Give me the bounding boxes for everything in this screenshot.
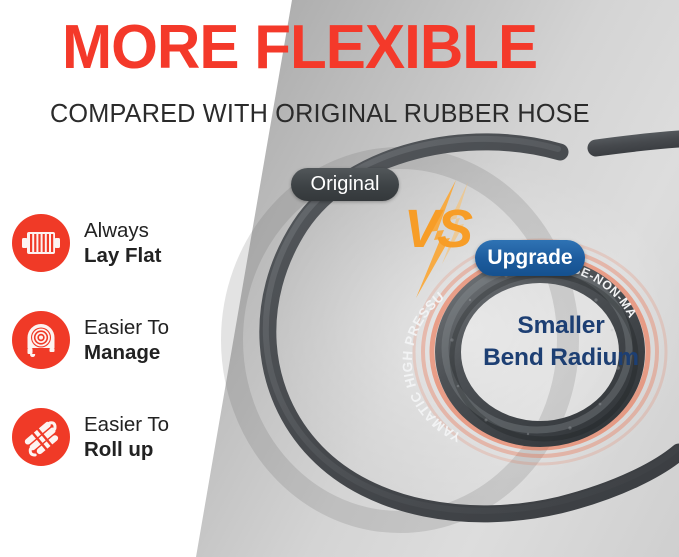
- benefit-line1: Smaller: [517, 312, 604, 339]
- vs-label: VS: [404, 202, 470, 256]
- page-title: MORE FLEXIBLE: [62, 17, 537, 79]
- feature-label-lay-flat: Always Lay Flat: [84, 218, 161, 268]
- feature-label-manage: Easier To Manage: [84, 315, 169, 365]
- original-badge: Original: [291, 168, 399, 201]
- coiled-hose-bundle-icon: [12, 408, 70, 466]
- feature-item-roll-up: Easier To Roll up: [12, 408, 169, 466]
- infographic-canvas: YAMATIC HIGH PRESSU SE-NON-MARKI MORE FL…: [0, 0, 679, 557]
- flat-hose-reel-icon: [12, 214, 70, 272]
- feature-line2: Manage: [84, 341, 160, 364]
- feature-item-lay-flat: Always Lay Flat: [12, 214, 161, 272]
- hose-reel-cart-icon: [12, 311, 70, 369]
- feature-label-roll-up: Easier To Roll up: [84, 412, 169, 462]
- feature-line1: Easier To: [84, 413, 169, 436]
- feature-line1: Easier To: [84, 316, 169, 339]
- benefit-text: Smaller Bend Radium: [466, 310, 656, 374]
- feature-line2: Lay Flat: [84, 244, 161, 267]
- page-subtitle: COMPARED WITH ORIGINAL RUBBER HOSE: [50, 100, 590, 128]
- feature-line1: Always: [84, 219, 149, 242]
- vs-graphic: VS: [398, 180, 502, 300]
- feature-item-manage: Easier To Manage: [12, 311, 169, 369]
- feature-line2: Roll up: [84, 438, 153, 461]
- benefit-line2: Bend Radium: [483, 344, 639, 371]
